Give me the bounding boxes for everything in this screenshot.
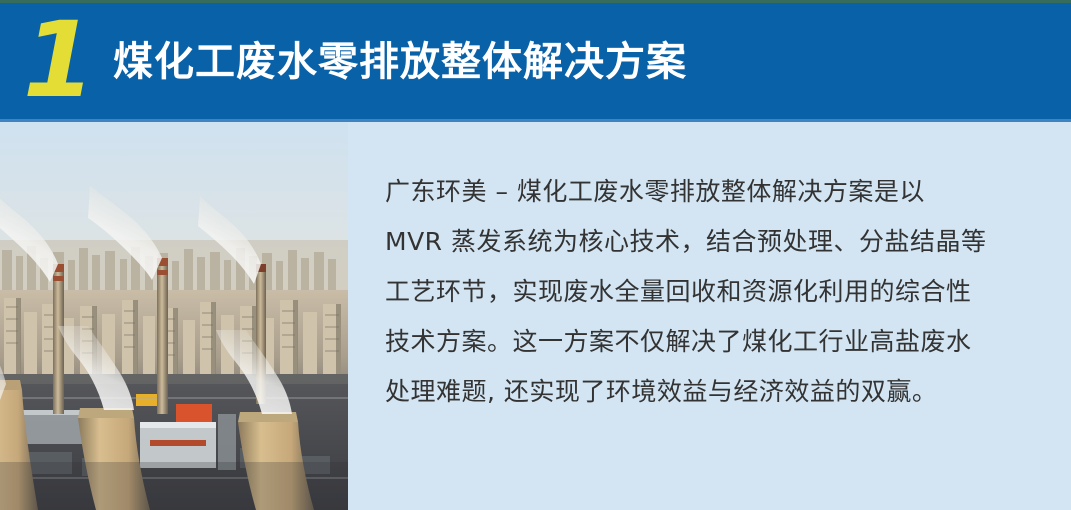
description-line: 技术方案。这一方案不仅解决了煤化工行业高盐废水	[385, 317, 985, 367]
step-number-badge: 1	[18, 8, 98, 112]
page-title: 煤化工废水零排放整体解决方案	[113, 37, 687, 87]
description-line: 处理难题, 还实现了环境效益与经济效益的双赢。	[385, 367, 985, 417]
content-area: 广东环美 – 煤化工废水零排放整体解决方案是以 MVR 蒸发系统为核心技术，结合…	[0, 122, 1071, 510]
description-line: MVR 蒸发系统为核心技术，结合预处理、分盐结晶等	[385, 217, 985, 267]
header-bar: 1 煤化工废水零排放整体解决方案	[0, 0, 1071, 122]
slide-root: 1 煤化工废水零排放整体解决方案	[0, 0, 1071, 510]
header-top-accent-line	[0, 0, 1071, 3]
photo-illustration	[0, 122, 348, 510]
industrial-plant-photo	[0, 122, 348, 510]
description-line: 广东环美 – 煤化工废水零排放整体解决方案是以	[385, 167, 985, 217]
description-text-block: 广东环美 – 煤化工废水零排放整体解决方案是以 MVR 蒸发系统为核心技术，结合…	[385, 167, 985, 417]
description-line: 工艺环节，实现废水全量回收和资源化利用的综合性	[385, 267, 985, 317]
